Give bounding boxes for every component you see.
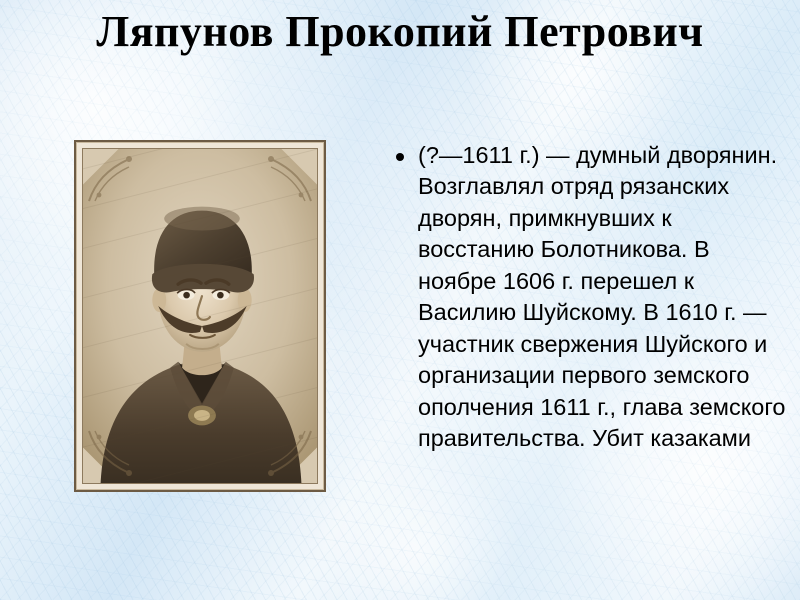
bullet-point-icon [396, 153, 404, 161]
portrait-image [82, 148, 318, 484]
bullet-text: (?—1611 г.) — думный дворянин. Возглавля… [418, 140, 788, 455]
corner-ornament-icon [261, 151, 315, 205]
corner-ornament-icon [85, 427, 139, 481]
corner-ornament-icon [85, 151, 139, 205]
slide: Ляпунов Прокопий Петрович [0, 0, 800, 600]
portrait-lyapunov [74, 140, 322, 488]
portrait-frame [74, 140, 326, 492]
page-title: Ляпунов Прокопий Петрович [40, 6, 760, 57]
list-item: (?—1611 г.) — думный дворянин. Возглавля… [396, 140, 788, 455]
corner-ornament-icon [261, 427, 315, 481]
content-body: (?—1611 г.) — думный дворянин. Возглавля… [396, 140, 788, 455]
